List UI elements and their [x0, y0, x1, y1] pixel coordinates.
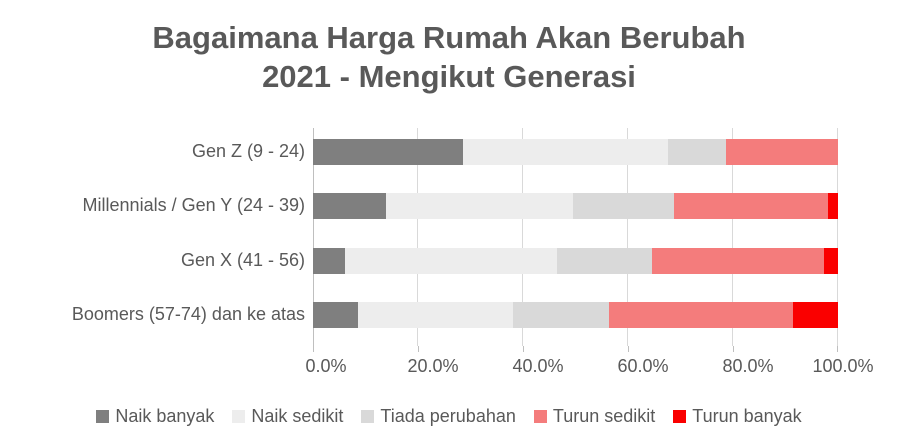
- x-axis-tick-100: [837, 346, 838, 352]
- x-axis-tick-40: [523, 346, 524, 352]
- bar-segment-turun-banyak[interactable]: [828, 193, 838, 219]
- chart-title-line-1: Bagaimana Harga Rumah Akan Berubah: [0, 18, 898, 57]
- bar-segment-turun-banyak[interactable]: [793, 302, 838, 328]
- bar-segment-turun-sedikit[interactable]: [726, 139, 838, 165]
- x-axis-ticks: [313, 346, 838, 352]
- y-axis-label-gen-z: Gen Z (9 - 24): [0, 140, 305, 162]
- chart-title-line-2: 2021 - Mengikut Generasi: [0, 57, 898, 96]
- legend-label: Turun banyak: [692, 405, 801, 427]
- x-axis-label-20: 20.0%: [407, 354, 458, 378]
- legend-swatch-icon: [232, 410, 245, 423]
- bar-row-boomers[interactable]: [313, 302, 838, 328]
- bar-segment-turun-sedikit[interactable]: [674, 193, 828, 219]
- chart-container: Bagaimana Harga Rumah Akan Berubah 2021 …: [0, 0, 898, 447]
- bar-segment-naik-banyak[interactable]: [313, 248, 345, 274]
- bar-segment-naik-banyak[interactable]: [313, 302, 358, 328]
- legend-swatch-icon: [361, 410, 374, 423]
- legend-item-tiada-perubahan[interactable]: Tiada perubahan: [361, 405, 515, 427]
- chart-title: Bagaimana Harga Rumah Akan Berubah 2021 …: [0, 18, 898, 96]
- chart-legend: Naik banyak Naik sedikit Tiada perubahan…: [0, 405, 898, 427]
- bar-segment-tiada-perubahan[interactable]: [573, 193, 674, 219]
- legend-item-naik-sedikit[interactable]: Naik sedikit: [232, 405, 343, 427]
- y-axis-category-labels: Gen Z (9 - 24) Millennials / Gen Y (24 -…: [0, 128, 305, 346]
- bar-segment-tiada-perubahan[interactable]: [668, 139, 726, 165]
- bar-segment-tiada-perubahan[interactable]: [557, 248, 652, 274]
- x-axis-label-80: 80.0%: [722, 354, 773, 378]
- x-axis-tick-80: [733, 346, 734, 352]
- bar-segment-tiada-perubahan[interactable]: [513, 302, 609, 328]
- bar-segment-naik-sedikit[interactable]: [386, 193, 573, 219]
- legend-label: Tiada perubahan: [380, 405, 515, 427]
- x-axis-label-60: 60.0%: [617, 354, 668, 378]
- legend-label: Turun sedikit: [553, 405, 655, 427]
- bar-segment-naik-sedikit[interactable]: [345, 248, 557, 274]
- y-axis-label-boomers: Boomers (57-74) dan ke atas: [0, 303, 305, 325]
- bars-layer: [313, 128, 838, 346]
- legend-swatch-icon: [673, 410, 686, 423]
- x-axis-tick-labels: 0.0% 20.0% 40.0% 60.0% 80.0% 100.0%: [0, 354, 898, 380]
- bar-segment-naik-sedikit[interactable]: [358, 302, 513, 328]
- bar-segment-turun-sedikit[interactable]: [652, 248, 824, 274]
- legend-item-turun-banyak[interactable]: Turun banyak: [673, 405, 801, 427]
- x-axis-tick-60: [628, 346, 629, 352]
- legend-item-naik-banyak[interactable]: Naik banyak: [96, 405, 214, 427]
- y-axis-label-millennials: Millennials / Gen Y (24 - 39): [0, 194, 305, 216]
- plot-area: [313, 128, 838, 346]
- bar-segment-naik-banyak[interactable]: [313, 193, 386, 219]
- legend-swatch-icon: [96, 410, 109, 423]
- legend-label: Naik banyak: [115, 405, 214, 427]
- x-axis-label-40: 40.0%: [512, 354, 563, 378]
- bar-segment-turun-sedikit[interactable]: [609, 302, 793, 328]
- bar-segment-turun-banyak[interactable]: [824, 248, 838, 274]
- bar-segment-naik-sedikit[interactable]: [463, 139, 668, 165]
- bar-row-millennials[interactable]: [313, 193, 838, 219]
- legend-item-turun-sedikit[interactable]: Turun sedikit: [534, 405, 655, 427]
- bar-row-gen-x[interactable]: [313, 248, 838, 274]
- legend-swatch-icon: [534, 410, 547, 423]
- bar-row-gen-z[interactable]: [313, 139, 838, 165]
- x-axis-label-0: 0.0%: [305, 354, 346, 378]
- x-axis-tick-20: [418, 346, 419, 352]
- bar-segment-naik-banyak[interactable]: [313, 139, 463, 165]
- x-axis-tick-0: [313, 346, 314, 352]
- y-axis-label-gen-x: Gen X (41 - 56): [0, 249, 305, 271]
- x-axis-label-100: 100.0%: [812, 354, 873, 378]
- legend-label: Naik sedikit: [251, 405, 343, 427]
